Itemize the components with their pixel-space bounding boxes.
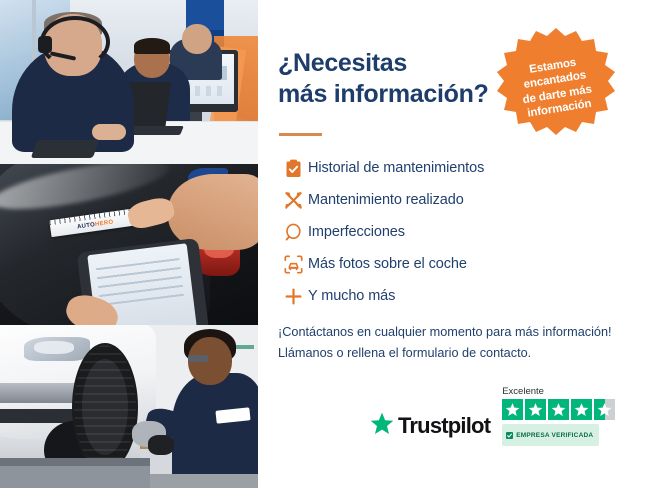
- feature-item-mantenimiento: Mantenimiento realizado: [278, 184, 578, 216]
- trustpilot-star-icon: [370, 412, 394, 440]
- feature-label: Historial de mantenimientos: [308, 160, 484, 176]
- contact-paragraph-line1: ¡Contáctanos en cualquier momento para m…: [278, 322, 638, 343]
- contact-paragraph: ¡Contáctanos en cualquier momento para m…: [278, 322, 638, 363]
- page-title-line2: más información?: [278, 79, 528, 110]
- star-filled-4: [571, 399, 592, 420]
- feature-list: Historial de mantenimientos Mante: [278, 152, 578, 312]
- tools-wrench-screwdriver-icon: [278, 191, 308, 210]
- star-filled-3: [548, 399, 569, 420]
- promo-card: AUTOHERO ¿Necesitas más info: [0, 0, 650, 488]
- feature-item-historial: Historial de mantenimientos: [278, 152, 578, 184]
- magnifier-icon: [278, 223, 308, 242]
- trustpilot-rating: Excelente EMPRESA VERIFICADA: [502, 386, 615, 446]
- trustpilot-widget[interactable]: Trustpilot Excelente EMPRESA VERIFICADA: [370, 386, 615, 446]
- star-filled-2: [525, 399, 546, 420]
- feature-item-fotos: Más fotos sobre el coche: [278, 248, 578, 280]
- feature-item-imperfecciones: Imperfecciones: [278, 216, 578, 248]
- verified-company-label: EMPRESA VERIFICADA: [516, 432, 593, 439]
- starburst-badge: Estamos encantados de darte más informac…: [495, 26, 617, 148]
- verified-check-icon: [506, 426, 513, 444]
- star-filled-1: [502, 399, 523, 420]
- trustpilot-rating-label: Excelente: [502, 386, 544, 397]
- photo-call-center: [0, 0, 258, 164]
- photo-column: AUTOHERO: [0, 0, 258, 488]
- title-divider: [279, 133, 322, 136]
- verified-company-badge: EMPRESA VERIFICADA: [502, 424, 599, 446]
- photo-car-inspection: AUTOHERO: [0, 164, 258, 325]
- feature-label: Más fotos sobre el coche: [308, 256, 467, 272]
- trustpilot-stars: [502, 399, 615, 420]
- car-photo-frame-icon: [278, 255, 308, 274]
- photo-workshop-wheel: [0, 325, 258, 488]
- plus-icon: [278, 287, 308, 306]
- feature-item-mas: Y mucho más: [278, 280, 578, 312]
- feature-label: Imperfecciones: [308, 224, 405, 240]
- feature-label: Mantenimiento realizado: [308, 192, 464, 208]
- trustpilot-wordmark: Trustpilot: [398, 413, 490, 439]
- badge-text: Estamos encantados de darte más informac…: [499, 51, 613, 125]
- clipboard-check-icon: [278, 159, 308, 178]
- feature-label: Y mucho más: [308, 288, 395, 304]
- content-panel: ¿Necesitas más información? Estamos: [258, 0, 650, 488]
- star-half-5: [594, 399, 615, 420]
- contact-paragraph-line2: Llámanos o rellena el formulario de cont…: [278, 343, 638, 364]
- ruler-brand-hero: HERO: [95, 219, 114, 228]
- ruler-brand-auto: AUTO: [77, 222, 96, 230]
- trustpilot-logo: Trustpilot: [370, 412, 490, 446]
